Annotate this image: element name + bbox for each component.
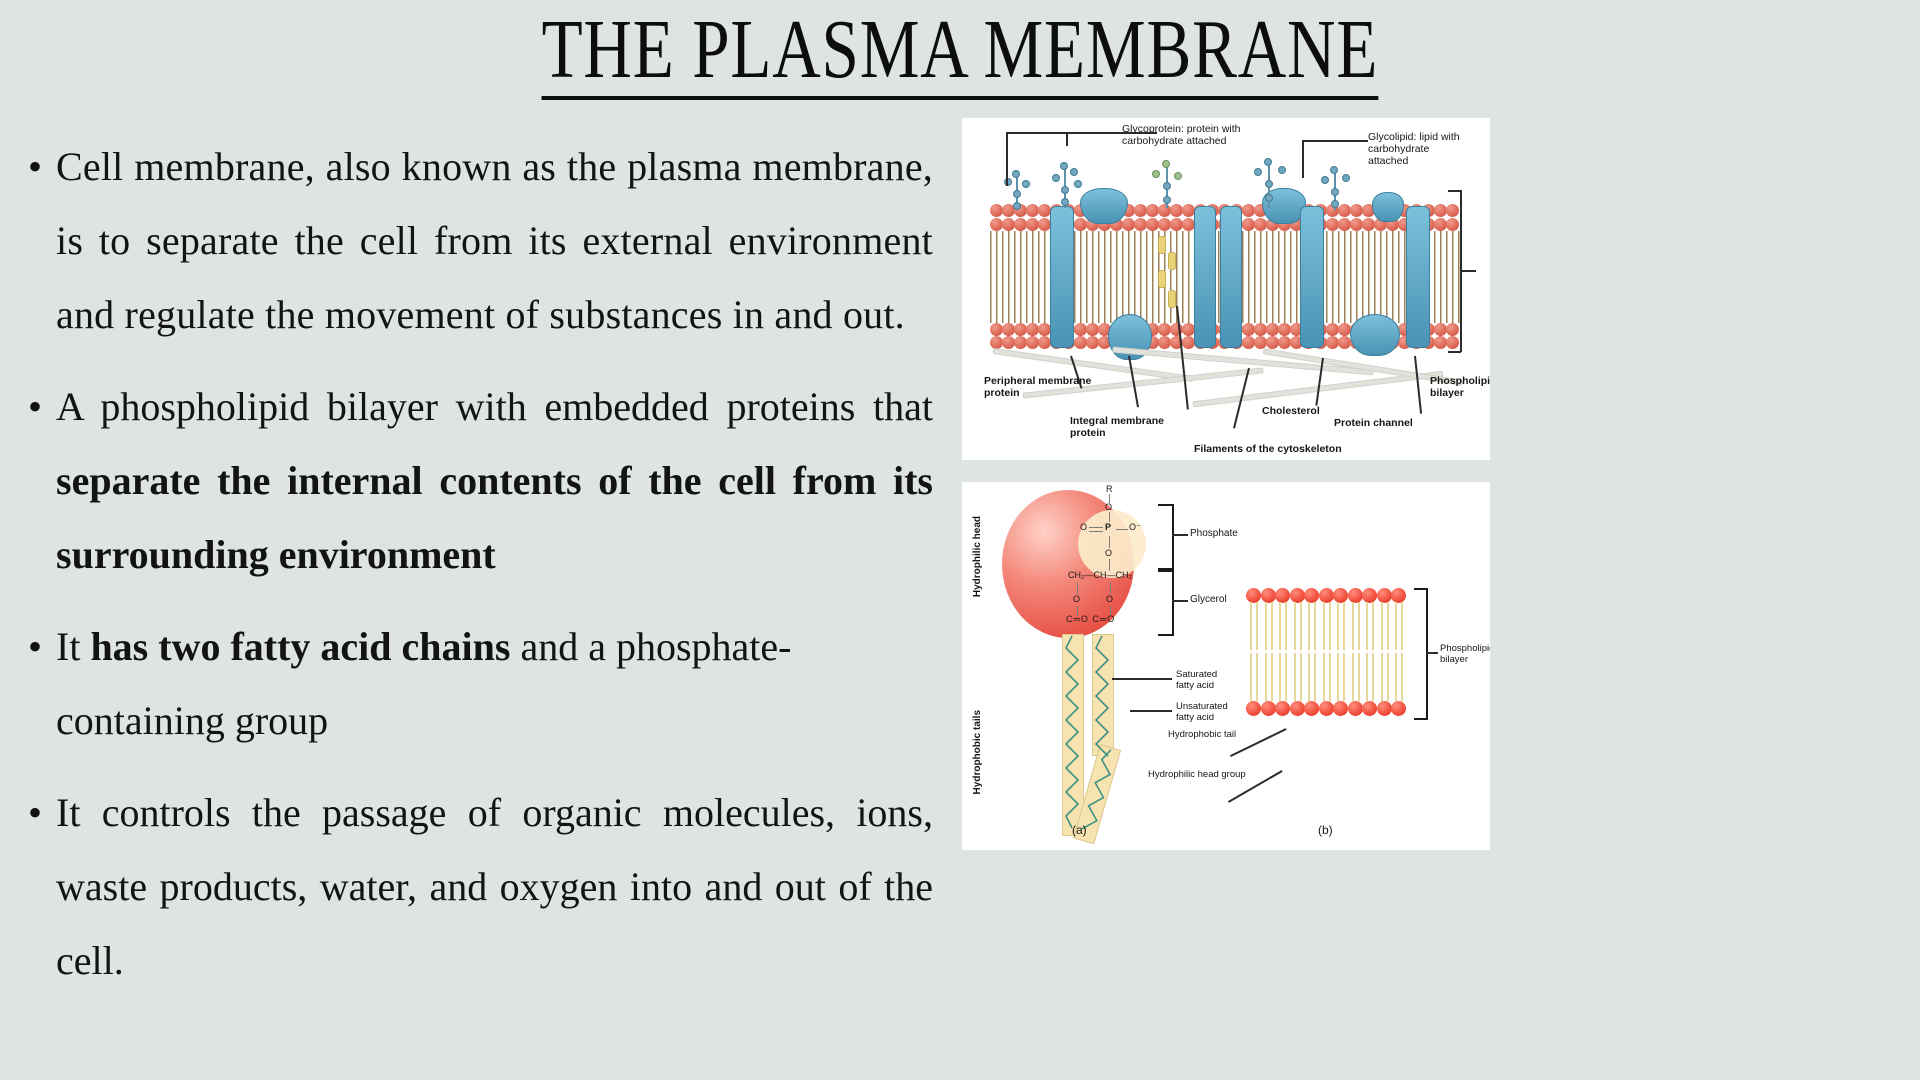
bilayer-tail	[1265, 602, 1267, 650]
membrane-diagram-panel: Glycoprotein: protein with carbohydrate …	[962, 118, 1490, 460]
chem-R: R	[1106, 484, 1113, 494]
chem-glycerol-chain: CH₂—CH—CH₂	[1068, 570, 1132, 580]
bilayer-tail	[1285, 653, 1287, 701]
phospholipid-bilayer-illustration	[1244, 588, 1404, 716]
title-container: THE PLASMA MEMBRANE	[0, 6, 1920, 100]
bilayer-head	[1391, 701, 1406, 716]
chem-ester: C═O C═O	[1066, 614, 1115, 624]
bilayer-head	[1304, 588, 1319, 603]
leader-line	[1302, 140, 1304, 178]
panel-a-label: (a)	[1072, 824, 1087, 837]
bullet-text: A phospholipid bilayer with embedded pro…	[56, 370, 933, 592]
bilayer-tail	[1381, 602, 1383, 650]
glycoprotein-carbohydrate-right	[1250, 158, 1294, 208]
bilayer-tail	[1372, 653, 1374, 701]
bilayer-tail	[1343, 653, 1345, 701]
bilayer-head	[1261, 701, 1276, 716]
list-item: • It controls the passage of organic mol…	[28, 776, 933, 998]
text-run: A phospholipid bilayer with embedded pro…	[56, 384, 933, 429]
text-run: It controls the passage of organic molec…	[56, 790, 933, 983]
bilayer-tail	[1343, 602, 1345, 650]
bilayer-tail	[1250, 602, 1252, 650]
double-bond	[1089, 531, 1103, 532]
bilayer-tail	[1337, 602, 1339, 650]
bilayer-tail	[1352, 653, 1354, 701]
bilayer-tail	[1265, 653, 1267, 701]
glycoprotein-label: Glycoprotein: protein with carbohydrate …	[1122, 124, 1241, 148]
bilayer-tail	[1314, 653, 1316, 701]
bilayer-tail	[1329, 602, 1331, 650]
page-title: THE PLASMA MEMBRANE	[542, 6, 1379, 100]
text-run-bold: separate the internal contents of the ce…	[56, 458, 933, 577]
bilayer-tail	[1387, 602, 1389, 650]
bilayer-tail	[1323, 653, 1325, 701]
bilayer-tail	[1300, 653, 1302, 701]
text-run-bold: has two fatty acid chains	[90, 624, 510, 669]
phospholipid-bilayer-label: Phospholipid bilayer	[1440, 644, 1490, 665]
cholesterol-molecule	[1158, 236, 1166, 254]
leader-line	[1006, 132, 1118, 134]
list-item: • Cell membrane, also known as the plasm…	[28, 130, 933, 352]
bilayer-tail	[1358, 653, 1360, 701]
bracket-line	[1460, 270, 1476, 272]
membrane-diagram-figure: Glycoprotein: protein with carbohydrate …	[962, 118, 1490, 460]
glycerol-bracket	[1158, 570, 1174, 636]
bilayer-tail	[1314, 602, 1316, 650]
bilayer-tail	[1294, 602, 1296, 650]
bilayer-head	[1348, 701, 1363, 716]
bilayer-tail	[1294, 653, 1296, 701]
bracket-line	[1448, 351, 1461, 353]
slide-canvas: THE PLASMA MEMBRANE • Cell membrane, als…	[0, 0, 1920, 1080]
hydrophilic-head-group-label: Hydrophilic head group	[1148, 770, 1246, 781]
glycerol-label: Glycerol	[1190, 594, 1227, 605]
saturated-fatty-acid-label: Saturated fatty acid	[1176, 670, 1217, 691]
bilayer-tail	[1308, 653, 1310, 701]
bilayer-head	[1377, 701, 1392, 716]
protein-channel-mid2	[1220, 206, 1242, 348]
bilayer-tail	[1395, 653, 1397, 701]
protein-channel-right	[1300, 206, 1324, 348]
glycolipid-carbohydrate-mid	[1148, 160, 1188, 208]
bilayer-tail	[1250, 653, 1252, 701]
glycoprotein-carbohydrate	[1048, 162, 1088, 208]
bullet-text: Cell membrane, also known as the plasma …	[56, 130, 933, 352]
leader-line	[1302, 140, 1368, 142]
bilayer-tail	[1395, 602, 1397, 650]
list-item: • It has two fatty acid chains and a pho…	[28, 610, 933, 758]
bilayer-head	[1391, 588, 1406, 603]
cholesterol-molecule	[1158, 270, 1166, 288]
bond-line	[1077, 582, 1078, 594]
phospholipid-diagram-panel: R O O P O⁻ O CH₂—CH—CH₂ O O C═O C═O	[962, 482, 1490, 850]
bilayer-head	[1261, 588, 1276, 603]
bilayer-tail	[1279, 602, 1281, 650]
cholesterol-molecule	[1168, 290, 1176, 308]
leader-line	[1230, 728, 1286, 757]
bond-line	[1110, 582, 1111, 594]
glycolipid-carbohydrate-right	[1318, 166, 1358, 210]
bullet-text: It controls the passage of organic molec…	[56, 776, 933, 998]
chem-O-b: O	[1106, 594, 1113, 604]
phospholipid-diagram-figure: R O O P O⁻ O CH₂—CH—CH₂ O O C═O C═O	[962, 482, 1490, 850]
protein-channel-far-right	[1406, 206, 1430, 348]
bilayer-head	[1377, 588, 1392, 603]
bilayer-tail	[1256, 602, 1258, 650]
leader-line	[1112, 678, 1172, 680]
bullet-marker: •	[28, 776, 56, 850]
bilayer-tail	[1285, 602, 1287, 650]
bilayer-head	[1362, 701, 1377, 716]
cholesterol-label: Cholesterol	[1262, 406, 1320, 418]
bilayer-bracket	[1414, 588, 1428, 720]
leader-line	[1130, 710, 1172, 712]
bilayer-head	[1319, 701, 1334, 716]
bilayer-tail	[1352, 602, 1354, 650]
bilayer-tail	[1372, 602, 1374, 650]
bilayer-tail	[1256, 653, 1258, 701]
cholesterol-molecule	[1168, 252, 1176, 270]
bracket-line	[1448, 190, 1461, 192]
double-bond	[1089, 527, 1103, 528]
bilayer-tail	[1381, 653, 1383, 701]
bond-line	[1109, 512, 1110, 522]
leader-line	[1426, 652, 1438, 654]
bilayer-head	[1275, 701, 1290, 716]
bilayer-head	[1362, 588, 1377, 603]
bilayer-tail	[1271, 653, 1273, 701]
bilayer-tail	[1271, 602, 1273, 650]
bond-line	[1116, 529, 1128, 530]
bilayer-tail	[1358, 602, 1360, 650]
bullet-marker: •	[28, 370, 56, 444]
bilayer-tail	[1308, 602, 1310, 650]
protein-channel-label: Protein channel	[1334, 418, 1413, 430]
bilayer-head	[1333, 588, 1348, 603]
bilayer-tail	[1366, 602, 1368, 650]
bilayer-head	[1348, 588, 1363, 603]
chem-O-a: O	[1073, 594, 1080, 604]
chem-O-top: O	[1105, 502, 1112, 512]
chem-O-right: O⁻	[1129, 522, 1141, 533]
bilayer-head	[1290, 701, 1305, 716]
bilayer-tail	[1337, 653, 1339, 701]
protein-channel-mid	[1194, 206, 1216, 348]
bilayer-head	[1246, 701, 1261, 716]
hydrophobic-tail-label: Hydrophobic tail	[1168, 730, 1236, 741]
bilayer-head	[1319, 588, 1334, 603]
list-item: • A phospholipid bilayer with embedded p…	[28, 370, 933, 592]
bilayer-tail	[1387, 653, 1389, 701]
filaments-label: Filaments of the cytoskeleton	[1194, 444, 1342, 456]
chem-P: P	[1105, 522, 1111, 532]
phosphate-bracket	[1158, 504, 1174, 570]
bilayer-head	[1246, 588, 1261, 603]
bilayer-tail	[1323, 602, 1325, 650]
bilayer-tail	[1401, 602, 1403, 650]
bilayer-tail	[1401, 653, 1403, 701]
bilayer-head	[1333, 701, 1348, 716]
chem-O-left: O	[1080, 522, 1087, 532]
bilayer-head	[1304, 701, 1319, 716]
bullet-list: • Cell membrane, also known as the plasm…	[28, 130, 933, 1016]
bilayer-tail	[1300, 602, 1302, 650]
bilayer-head	[1290, 588, 1305, 603]
chem-O-bottom: O	[1105, 548, 1112, 558]
bilayer-tail	[1329, 653, 1331, 701]
leader-line	[1414, 356, 1422, 414]
phosphate-label: Phosphate	[1190, 528, 1238, 539]
bilayer-tail	[1366, 653, 1368, 701]
peripheral-protein-label: Peripheral membrane protein	[984, 376, 1091, 400]
hydrophilic-head-axis-label: Hydrophilic head	[972, 516, 983, 597]
hydrophobic-tails-axis-label: Hydrophobic tails	[972, 710, 983, 794]
unsaturated-fatty-acid-label: Unsaturated fatty acid	[1176, 702, 1228, 723]
leader-line	[1172, 600, 1188, 602]
text-run: It	[56, 624, 90, 669]
bullet-text: It has two fatty acid chains and a phosp…	[56, 610, 933, 758]
phospholipid-bilayer-label: Phospholipid bilayer	[1430, 376, 1490, 400]
leader-line	[1172, 534, 1188, 536]
protein-channel-left	[1050, 206, 1074, 348]
peripheral-protein-right	[1350, 314, 1400, 356]
bullet-marker: •	[28, 610, 56, 684]
small-protein	[1372, 192, 1404, 222]
leader-line	[1006, 132, 1008, 186]
bilayer-tail	[1279, 653, 1281, 701]
integral-protein-label: Integral membrane protein	[1070, 416, 1164, 440]
bond-line	[1109, 536, 1110, 548]
glycolipid-label: Glycolipid: lipid with carbohydrate atta…	[1368, 132, 1460, 167]
text-run: Cell membrane, also known as the plasma …	[56, 144, 933, 337]
bilayer-head	[1275, 588, 1290, 603]
leader-line	[1066, 132, 1068, 146]
panel-b-label: (b)	[1318, 824, 1333, 837]
phosphate-highlight	[1078, 510, 1146, 578]
bullet-marker: •	[28, 130, 56, 204]
